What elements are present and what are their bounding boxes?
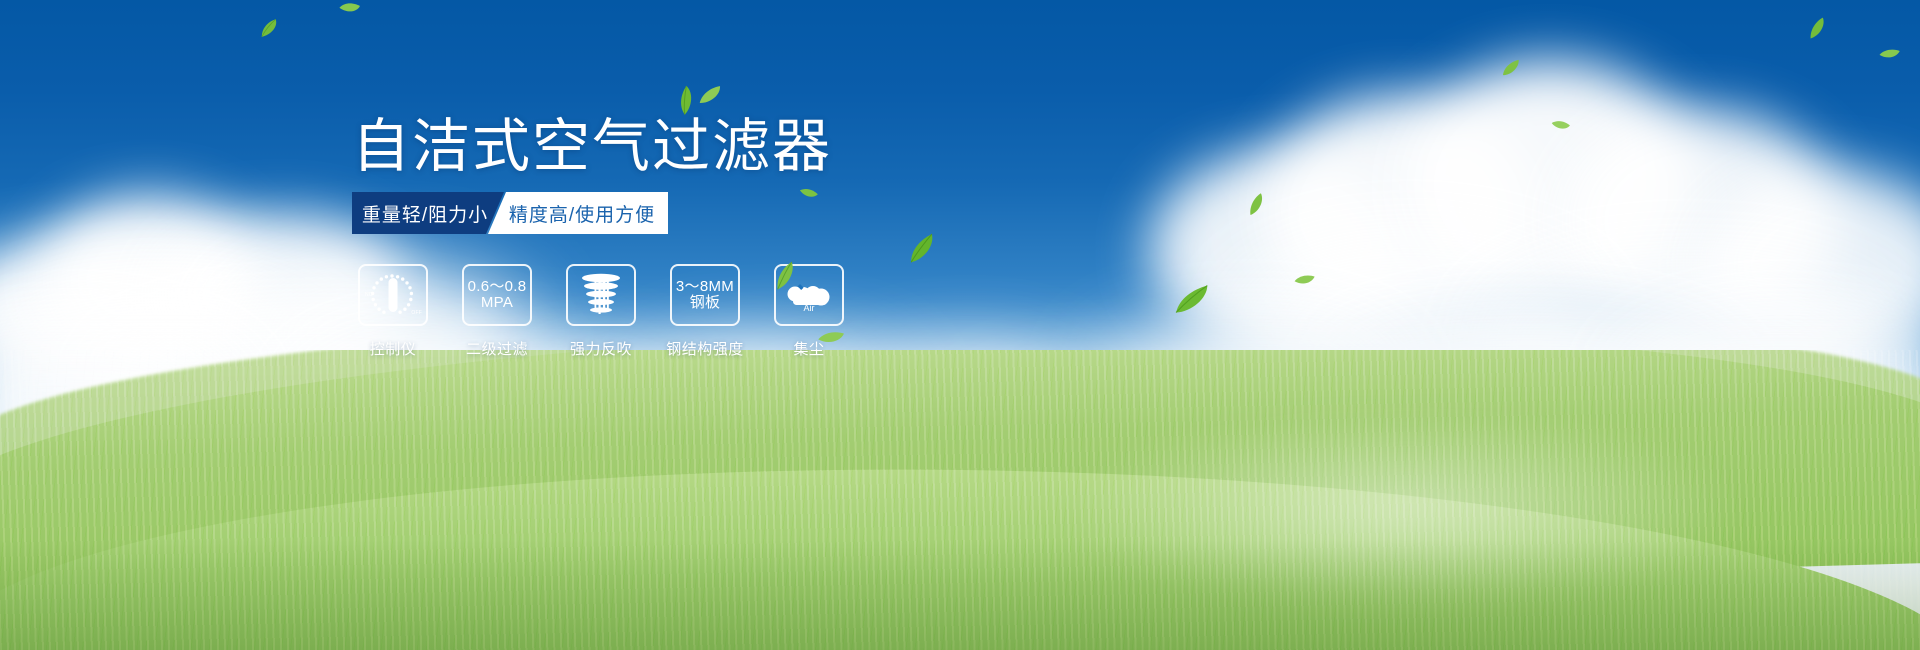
filter-coil-icon	[578, 271, 624, 319]
feature-caption: 控制仪	[370, 338, 417, 359]
steel-plate-icon-line2: 钢板	[690, 295, 721, 312]
steel-plate-icon-line1: 3～8MM	[676, 279, 734, 296]
feature-icon-box: 3～8MM 钢板	[670, 264, 740, 326]
feature-caption: 二级过滤	[466, 338, 528, 359]
feature-icon-box: NO OFF	[358, 264, 428, 326]
pressure-icon-line2: MPA	[481, 295, 513, 312]
page-title: 自洁式空气过滤器	[352, 118, 832, 176]
feature-item: 3～8MM 钢板 钢结构强度	[664, 264, 746, 359]
dial-knob-icon	[389, 278, 398, 312]
dial-label-off: OFF	[411, 310, 422, 316]
dial-label-on: NO	[365, 292, 373, 298]
tagline-pill-secondary: 精度高/使用方便	[488, 192, 668, 234]
banner-content: 自洁式空气过滤器 重量轻/阻力小 精度高/使用方便	[0, 0, 1920, 650]
product-hero-banner: 自洁式空气过滤器 重量轻/阻力小 精度高/使用方便	[0, 0, 1920, 650]
pressure-icon-line1: 0.6～0.8	[468, 279, 527, 296]
feature-caption: 强力反吹	[570, 338, 632, 359]
feature-icon-box	[566, 264, 636, 326]
feature-caption: 钢结构强度	[666, 338, 744, 359]
tagline-pills: 重量轻/阻力小 精度高/使用方便	[352, 192, 668, 234]
feature-item: 强力反吹	[560, 264, 642, 359]
feature-item: NO OFF 控制仪	[352, 264, 434, 359]
dial-icon: NO OFF	[366, 271, 420, 319]
tagline-pill-primary: 重量轻/阻力小	[352, 192, 504, 234]
cloud-air-icon: Air	[783, 278, 835, 312]
feature-icon-box: 0.6～0.8 MPA	[462, 264, 532, 326]
feature-item: 0.6～0.8 MPA 二级过滤	[456, 264, 538, 359]
cloud-air-icon-label: Air	[804, 303, 815, 312]
